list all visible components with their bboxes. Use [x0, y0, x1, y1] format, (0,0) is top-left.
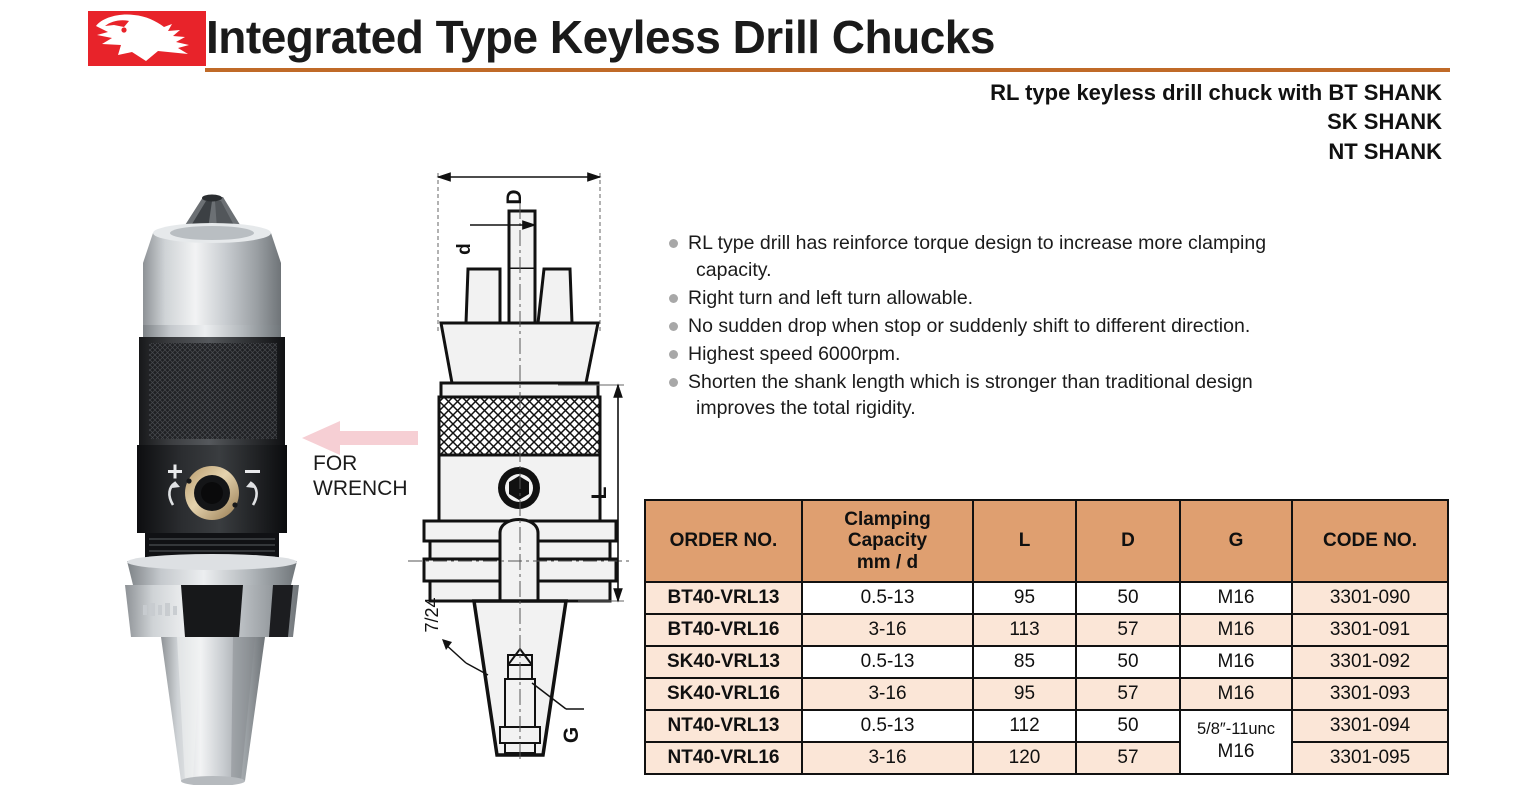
technical-drawing: D d L 7/24 G [408, 163, 648, 783]
cell-clamping-capacity: 3-16 [802, 678, 973, 710]
cell-g: M16 [1180, 614, 1292, 646]
table-row: SK40-VRL13 0.5-13 85 50 M16 3301-092 [645, 646, 1448, 678]
table-row: NT40-VRL16 3-16 120 57 3301-095 [645, 742, 1448, 774]
feature-text: Shorten the shank length which is strong… [688, 371, 1253, 393]
dimension-label-taper: 7/24 [422, 597, 442, 632]
feature-text-cont: improves the total rigidity. [688, 395, 1458, 422]
catalog-page: Integrated Type Keyless Drill Chucks RL … [0, 0, 1525, 791]
dimension-label-D: D [503, 189, 526, 204]
cell-d: 57 [1076, 614, 1180, 646]
cell-code-no: 3301-091 [1292, 614, 1448, 646]
cell-g: M16 [1180, 582, 1292, 614]
feature-text: Highest speed 6000rpm. [688, 343, 900, 365]
for-wrench-label: FOR WRENCH [313, 452, 408, 502]
cell-g-merged: 5/8″-11unc M16 [1180, 710, 1292, 774]
dimension-label-G: G [560, 727, 583, 743]
cell-l: 113 [973, 614, 1076, 646]
bullet-dot-icon [669, 322, 678, 331]
dimension-label-d: d [454, 243, 475, 255]
cell-clamping-capacity: 3-16 [802, 742, 973, 774]
list-item: Right turn and left turn allowable. [668, 285, 1458, 312]
clamping-label-line1: Clamping [803, 509, 972, 530]
cell-l: 85 [973, 646, 1076, 678]
feature-list: RL type drill has reinforce torque desig… [668, 230, 1458, 423]
column-header-code-no: CODE NO. [1292, 500, 1448, 582]
subtitle-line-1: RL type keyless drill chuck with BT SHAN… [560, 78, 1442, 107]
cell-l: 112 [973, 710, 1076, 742]
cell-order-no: NT40-VRL13 [645, 710, 802, 742]
cell-code-no: 3301-094 [1292, 710, 1448, 742]
feature-text: RL type drill has reinforce torque desig… [688, 232, 1266, 254]
subtitle-line-3: NT SHANK [560, 137, 1442, 166]
clamping-label-line3: mm / d [803, 552, 972, 573]
cell-code-no: 3301-090 [1292, 582, 1448, 614]
bullet-dot-icon [669, 350, 678, 359]
subtitle-line-2: SK SHANK [560, 107, 1442, 136]
cell-d: 50 [1076, 646, 1180, 678]
cell-order-no: BT40-VRL13 [645, 582, 802, 614]
clamping-label-line2: Capacity [803, 530, 972, 551]
cell-d: 57 [1076, 742, 1180, 774]
column-header-clamping-capacity: Clamping Capacity mm / d [802, 500, 973, 582]
cell-order-no: BT40-VRL16 [645, 614, 802, 646]
cell-order-no: NT40-VRL16 [645, 742, 802, 774]
cell-d: 50 [1076, 582, 1180, 614]
cell-clamping-capacity: 0.5-13 [802, 710, 973, 742]
cell-order-no: SK40-VRL13 [645, 646, 802, 678]
bullet-dot-icon [669, 239, 678, 248]
cell-d: 50 [1076, 710, 1180, 742]
cell-code-no: 3301-093 [1292, 678, 1448, 710]
product-photo [105, 185, 345, 785]
cell-order-no: SK40-VRL16 [645, 678, 802, 710]
cell-g-thread-metric: M16 [1181, 740, 1291, 765]
page-title: Integrated Type Keyless Drill Chucks [206, 10, 995, 64]
eagle-head-logo-icon [88, 11, 206, 66]
cell-l: 95 [973, 582, 1076, 614]
cell-g: M16 [1180, 646, 1292, 678]
for-wrench-label-line1: FOR [313, 452, 408, 477]
cell-code-no: 3301-095 [1292, 742, 1448, 774]
table-row: SK40-VRL16 3-16 95 57 M16 3301-093 [645, 678, 1448, 710]
dimension-label-L: L [588, 486, 611, 499]
feature-text: No sudden drop when stop or suddenly shi… [688, 315, 1250, 337]
cell-g-thread-inch: 5/8″-11unc [1181, 719, 1291, 740]
bullet-dot-icon [669, 294, 678, 303]
list-item: Shorten the shank length which is strong… [668, 369, 1458, 423]
column-header-d: D [1076, 500, 1180, 582]
cell-code-no: 3301-092 [1292, 646, 1448, 678]
for-wrench-label-line2: WRENCH [313, 477, 408, 502]
list-item: Highest speed 6000rpm. [668, 341, 1458, 368]
table-header-row: ORDER NO. Clamping Capacity mm / d L D G… [645, 500, 1448, 582]
list-item: No sudden drop when stop or suddenly shi… [668, 313, 1458, 340]
cell-clamping-capacity: 3-16 [802, 614, 973, 646]
cell-clamping-capacity: 0.5-13 [802, 646, 973, 678]
list-item: RL type drill has reinforce torque desig… [668, 230, 1458, 284]
column-header-order-no: ORDER NO. [645, 500, 802, 582]
cell-l: 95 [973, 678, 1076, 710]
table-row: BT40-VRL13 0.5-13 95 50 M16 3301-090 [645, 582, 1448, 614]
table-row: BT40-VRL16 3-16 113 57 M16 3301-091 [645, 614, 1448, 646]
subtitle-block: RL type keyless drill chuck with BT SHAN… [560, 78, 1442, 166]
cell-g: M16 [1180, 678, 1292, 710]
feature-text: Right turn and left turn allowable. [688, 287, 973, 309]
specification-table: ORDER NO. Clamping Capacity mm / d L D G… [644, 499, 1449, 775]
feature-text-cont: capacity. [688, 257, 1458, 284]
column-header-l: L [973, 500, 1076, 582]
table-row: NT40-VRL13 0.5-13 112 50 5/8″-11unc M16 … [645, 710, 1448, 742]
cell-l: 120 [973, 742, 1076, 774]
bullet-dot-icon [669, 378, 678, 387]
column-header-g: G [1180, 500, 1292, 582]
cell-clamping-capacity: 0.5-13 [802, 582, 973, 614]
cell-d: 57 [1076, 678, 1180, 710]
title-underline-divider [205, 68, 1450, 72]
